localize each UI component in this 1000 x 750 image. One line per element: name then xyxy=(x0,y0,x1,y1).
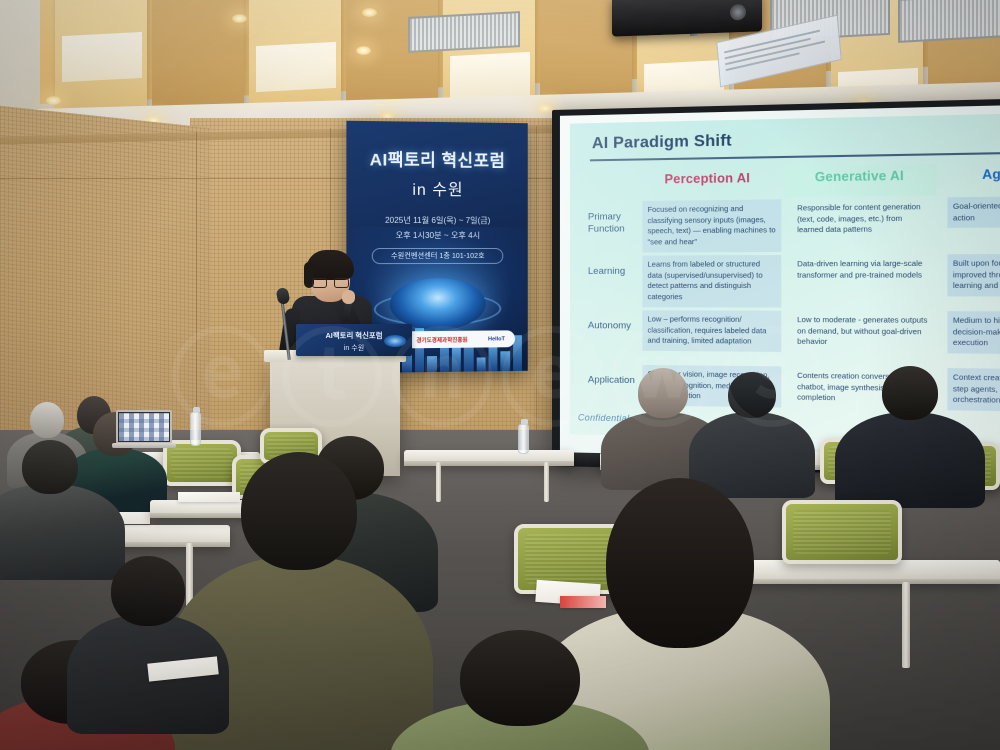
ceiling-light-panel xyxy=(62,32,142,82)
column-header-agentic-ai: Agentic AI xyxy=(945,166,1000,183)
cell-agentic: Medium to high - exhibits reasoning, dec… xyxy=(947,311,1000,355)
slide-row-autonomy: Autonomy Low – performs recognition/ cla… xyxy=(584,308,1000,367)
wall-seam xyxy=(536,126,537,446)
audience-person-foreground xyxy=(204,452,394,750)
audience-person-foreground xyxy=(420,630,620,750)
cell-generative: Data-driven learning via large-scale tra… xyxy=(792,254,937,285)
downlight xyxy=(538,104,553,113)
row-label: Learning xyxy=(588,266,645,278)
cell-perception: Low – performs recognition/ classificati… xyxy=(642,310,781,352)
downlight xyxy=(362,8,377,17)
cell-generative: Low to moderate - generates outputs on d… xyxy=(792,311,937,354)
cell-generative: Responsible for content generation (text… xyxy=(792,197,937,240)
podium-sign-orb xyxy=(384,335,406,347)
table-leg xyxy=(544,462,549,502)
column-header-generative-ai: Generative AI xyxy=(790,168,930,185)
laptop-base xyxy=(112,443,176,448)
chair[interactable] xyxy=(782,500,902,564)
banner-date: 2025년 11월 6일(목) ~ 7일(금) xyxy=(346,214,527,227)
cell-agentic: Built upon foundational models improved … xyxy=(947,254,1000,297)
downlight xyxy=(232,14,247,23)
person-head xyxy=(728,372,776,418)
person-head xyxy=(882,366,938,420)
slide-title-rule xyxy=(590,152,1000,162)
slide-title: AI Paradigm Shift xyxy=(584,126,1000,153)
cell-perception: Focused on recognizing and classifying s… xyxy=(642,199,781,252)
water-bottle xyxy=(190,412,201,446)
water-bottle xyxy=(518,424,529,454)
laptop-screen xyxy=(116,410,172,444)
person-head-long-hair xyxy=(606,478,754,648)
cell-agentic: Goal-oriented decision-making and action xyxy=(947,196,1000,229)
banner-title-line2: in 수원 xyxy=(346,175,527,200)
person-head xyxy=(241,452,357,570)
person-head xyxy=(22,440,78,494)
column-header-perception-ai: Perception AI xyxy=(640,171,775,187)
conference-room-photo: AI Paradigm Shift Perception AI Generati… xyxy=(0,0,1000,750)
projector-lens xyxy=(730,4,746,21)
downlight xyxy=(46,96,61,105)
handout-paper-colored xyxy=(560,596,606,608)
person-head xyxy=(111,556,185,626)
podium-sign: AI팩토리 혁신포럼 in 수원 xyxy=(296,324,412,356)
ceiling-light-panel xyxy=(256,42,336,92)
ceiling-projector xyxy=(612,0,762,37)
person-head xyxy=(30,402,64,438)
banner-title-line1: AI팩토리 혁신포럼 xyxy=(346,145,527,172)
audience-person xyxy=(0,440,100,550)
row-label: Autonomy xyxy=(588,320,645,332)
ceiling-air-vent xyxy=(408,11,520,53)
table-leg xyxy=(436,462,441,502)
banner-venue: 수원컨벤션센터 1층 101-102호 xyxy=(372,248,504,264)
audience-person xyxy=(88,556,208,706)
speaker-right-hand xyxy=(342,290,355,304)
table-leg xyxy=(902,582,910,668)
cell-perception: Learns from labeled or structured data (… xyxy=(642,255,781,308)
ceiling-air-vent xyxy=(898,0,1000,43)
audience-person xyxy=(710,372,794,472)
person-shoulders xyxy=(835,412,985,508)
person-head xyxy=(460,630,580,726)
speaker-hair xyxy=(306,250,354,280)
row-label: Primary Function xyxy=(588,211,645,235)
speaker-glasses xyxy=(312,278,349,288)
person-head xyxy=(638,368,688,418)
logo-gbsa: 경기도경제과학진흥원 xyxy=(416,335,467,344)
downlight xyxy=(356,46,371,55)
audience-person xyxy=(860,366,960,478)
slide-row-learning: Learning Learns from labeled or structur… xyxy=(584,252,1000,310)
banner-time: 오후 1시30분 ~ 오후 4시 xyxy=(346,229,527,241)
logo-hellot: HelloT xyxy=(488,336,505,342)
slide-row-primary-function: Primary Function Focused on recognizing … xyxy=(584,194,1000,254)
